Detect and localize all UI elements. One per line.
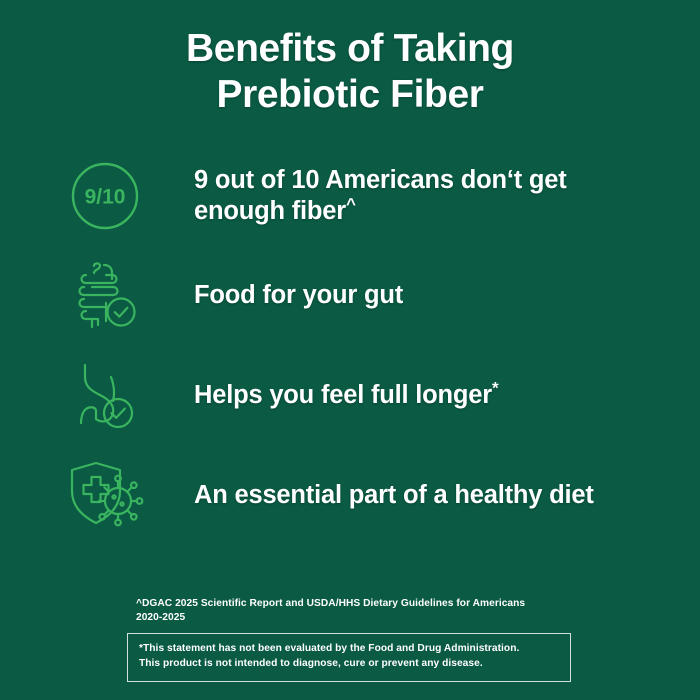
citation-line-2: 2020-2025 <box>136 612 185 623</box>
disclaimer-line-1: *This statement has not been evaluated b… <box>139 643 519 654</box>
list-item: Helps you feel full longer* <box>62 346 670 446</box>
title-line-1: Benefits of Taking <box>0 26 700 72</box>
benefits-list: 9/10 9 out of 10 Americans don‘t get eno… <box>0 146 700 546</box>
disclaimer-text: *This statement has not been evaluated b… <box>139 642 559 672</box>
ratio-circle-label: 9/10 <box>85 186 126 209</box>
list-item: 9/10 9 out of 10 Americans don‘t get eno… <box>62 146 670 246</box>
benefit-text: Helps you feel full longer* <box>194 380 498 411</box>
disclaimer-line-2: This product is not intended to diagnose… <box>139 658 483 669</box>
shield-virus-icon <box>62 453 148 539</box>
citation-line-1: ^DGAC 2025 Scientific Report and USDA/HH… <box>136 598 525 609</box>
ratio-circle-icon: 9/10 <box>62 153 148 239</box>
list-item: An essential part of a healthy diet <box>62 446 670 546</box>
page-title: Benefits of Taking Prebiotic Fiber <box>0 0 700 118</box>
benefit-label: An essential part of a healthy diet <box>194 481 594 509</box>
footnote-marker: * <box>492 379 498 398</box>
list-item: Food for your gut <box>62 246 670 346</box>
benefit-text: An essential part of a healthy diet <box>194 480 594 511</box>
benefit-label: Helps you feel full longer <box>194 381 492 409</box>
title-line-2: Prebiotic Fiber <box>0 72 700 118</box>
benefit-label: Food for your gut <box>194 281 403 309</box>
citation-text: ^DGAC 2025 Scientific Report and USDA/HH… <box>136 597 570 625</box>
benefit-text: 9 out of 10 Americans don‘t get enough f… <box>194 165 649 227</box>
intestine-check-icon <box>62 253 148 339</box>
fda-disclaimer-box: *This statement has not been evaluated b… <box>127 633 571 682</box>
benefit-text: Food for your gut <box>194 280 403 311</box>
footer: ^DGAC 2025 Scientific Report and USDA/HH… <box>0 597 700 682</box>
benefit-label: 9 out of 10 Americans don‘t get enough f… <box>194 166 567 225</box>
footnote-marker: ^ <box>346 195 356 214</box>
stomach-check-icon <box>62 353 148 439</box>
